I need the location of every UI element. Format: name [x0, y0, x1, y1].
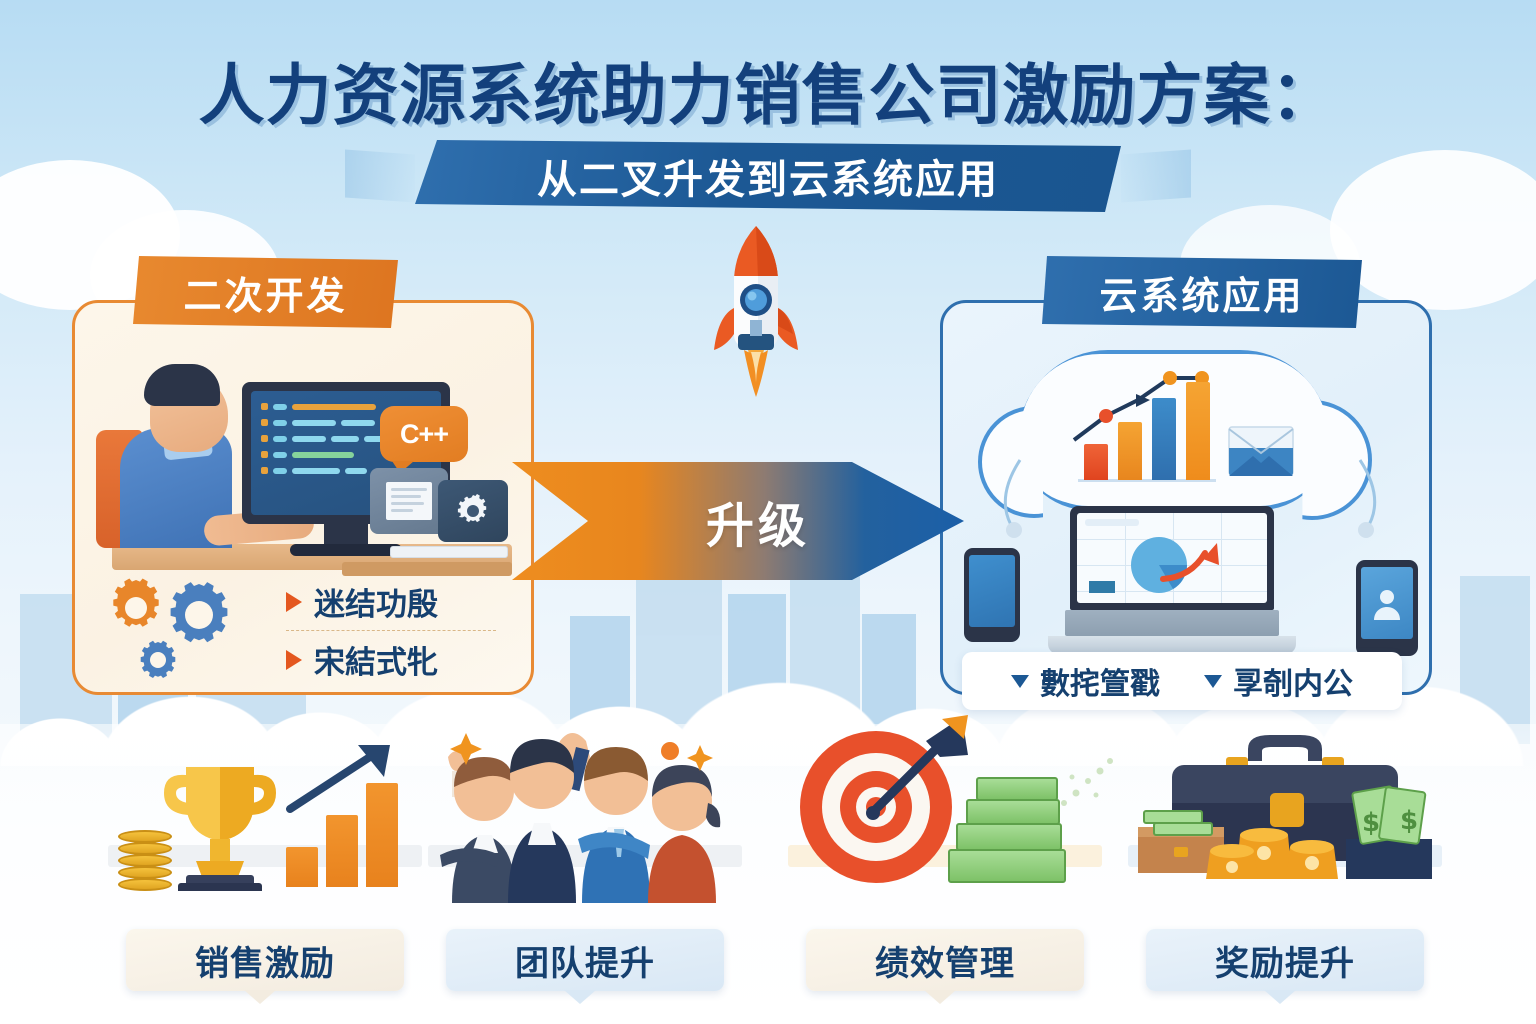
infographic-canvas: 人力资源系统助力销售公司激励方案： 从二叉升发到云系统应用 C++ [0, 0, 1536, 1024]
bullet-label: 宋結式牝 [314, 637, 438, 682]
up-arrow-icon [284, 743, 400, 815]
connector-lines [960, 450, 1420, 580]
ribbon-tail-right [1121, 150, 1191, 203]
money-stack-icon [948, 849, 1066, 883]
subtitle-text: 从二叉升发到云系统应用 [537, 147, 999, 205]
gear-card-icon [438, 480, 508, 542]
briefcase-illustration: $ $ [1120, 725, 1450, 925]
bottom-card-row: 销售激励 [0, 725, 1536, 1010]
list-item: 孠剞内公 [1204, 659, 1353, 703]
chart-bar [326, 815, 358, 887]
trophy-illustration [100, 725, 430, 925]
chart-bar [286, 847, 318, 887]
list-item: 數挓箮戳 [1011, 659, 1160, 703]
list-item: 宋結式牝 [286, 630, 496, 688]
right-bullet-list: 數挓箮戳 孠剞内公 [962, 652, 1402, 710]
card-label-text: 销售激励 [195, 936, 335, 985]
subtitle-ribbon: 从二叉升发到云系统应用 [415, 140, 1121, 212]
bullet-label: 數挓箮戳 [1040, 659, 1160, 703]
card-sales-incentive[interactable]: 销售激励 [100, 725, 430, 995]
badge-label: 二次开发 [183, 265, 347, 320]
card-label-text: 奖励提升 [1215, 936, 1355, 985]
sparkle-icon [1056, 755, 1116, 815]
card-performance-management[interactable]: 绩效管理 [780, 725, 1110, 995]
triangle-bullet-icon [286, 592, 302, 612]
money-stack-icon [956, 823, 1062, 851]
card-label-text: 团队提升 [515, 936, 655, 985]
title-block: 人力资源系统助力销售公司激励方案： [0, 42, 1536, 138]
cloud-shape [1330, 150, 1536, 310]
card-label-text: 绩效管理 [875, 936, 1015, 985]
badge-label: 云系统应用 [1099, 265, 1304, 320]
triangle-bullet-icon [1204, 675, 1222, 688]
keyboard-icon [390, 546, 508, 558]
page-title: 人力资源系统助力销售公司激励方案： [0, 42, 1536, 138]
card-label: 绩效管理 [806, 929, 1084, 991]
team-illustration [420, 725, 750, 925]
badge-cloud-system: 云系统应用 [1042, 256, 1362, 328]
ribbon-tail-left [345, 150, 415, 203]
cloud-system-illustration [960, 330, 1420, 690]
bullet-label: 孠剞内公 [1233, 659, 1353, 703]
list-item: 迷结功殷 [286, 573, 496, 630]
card-team-growth[interactable]: 团队提升 [420, 725, 750, 995]
card-label: 奖励提升 [1146, 929, 1424, 991]
developer-hair [144, 364, 220, 406]
monitor-base [290, 544, 402, 556]
rocket-icon [700, 222, 812, 397]
left-bullet-list: 迷结功殷 宋結式牝 [286, 573, 496, 688]
badge-secondary-development: 二次开发 [133, 256, 398, 328]
bullet-label: 迷结功殷 [314, 579, 438, 624]
card-label: 团队提升 [446, 929, 724, 991]
trophy-icon [156, 761, 284, 891]
target-illustration [780, 725, 1110, 925]
cpp-badge-icon: C++ [380, 406, 468, 462]
tablet-document-icon [370, 468, 448, 534]
money-stack-icon [976, 777, 1058, 801]
dart-icon [864, 713, 980, 821]
gears-cluster-icon [96, 570, 266, 680]
card-reward-growth[interactable]: $ $ 奖励提 [1120, 725, 1450, 995]
developer-illustration: C++ [92, 352, 522, 582]
triangle-bullet-icon [286, 650, 302, 670]
cpp-label: C++ [400, 419, 448, 450]
laptop-keyboard [1065, 610, 1279, 636]
arrow-label: 升级 [666, 486, 810, 556]
triangle-bullet-icon [1011, 675, 1029, 688]
money-stack-icon [966, 799, 1060, 825]
svg-text:$: $ [1362, 808, 1380, 838]
card-label: 销售激励 [126, 929, 404, 991]
svg-text:$: $ [1400, 806, 1418, 836]
briefcase-icon: $ $ [1130, 731, 1440, 889]
team-celebrating-icon [426, 727, 744, 903]
